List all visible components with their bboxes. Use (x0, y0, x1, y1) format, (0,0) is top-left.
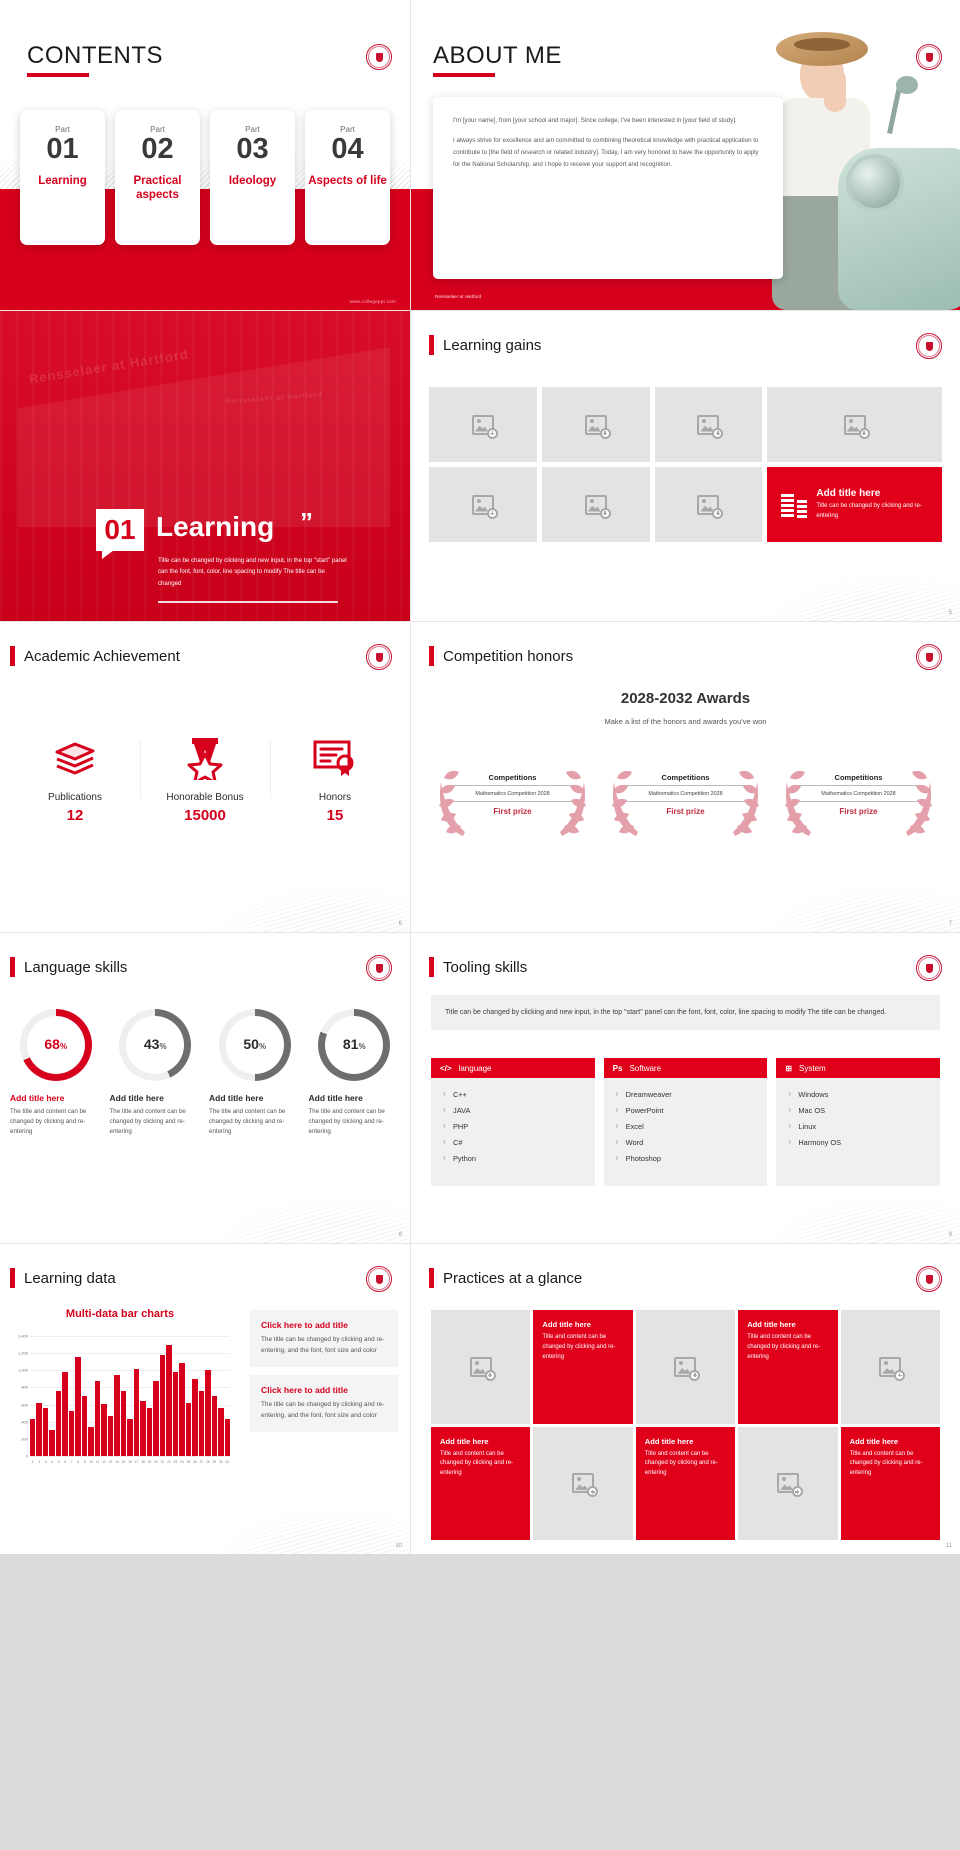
university-crest-icon (366, 1266, 392, 1292)
page-title: Tooling skills (443, 959, 527, 976)
chart-x-tick: 17 (134, 1460, 139, 1464)
add-image-icon (472, 495, 494, 515)
chart-x-tick: 11 (95, 1460, 100, 1464)
part-title: Ideology (210, 175, 295, 189)
practice-card-text: Title and content can be changed by clic… (850, 1450, 931, 1480)
page-title: CONTENTS (27, 42, 163, 70)
title-accent-bar (429, 1268, 434, 1288)
skill-desc: The title and content can be changed by … (110, 1107, 202, 1138)
practice-card-text: Title and content can be changed by clic… (645, 1450, 726, 1480)
chart-x-tick: 21 (160, 1460, 165, 1464)
page-title-block: Academic Achievement (10, 646, 180, 666)
page-title: Practices at a glance (443, 1270, 582, 1287)
chart-x-tick: 12 (101, 1460, 106, 1464)
chart-bar (192, 1379, 197, 1456)
part-title: Aspects of life (305, 175, 390, 189)
note-card[interactable]: Click here to add title The title can be… (250, 1310, 398, 1367)
award-card[interactable]: Competitions Mathematics Competition 202… (604, 752, 767, 837)
practice-card[interactable]: Add title here Title and content can be … (533, 1310, 632, 1424)
about-paragraph-1: I'm [your name], from [your school and m… (453, 115, 763, 127)
skill-value: 50 (243, 1036, 259, 1052)
image-placeholder[interactable] (636, 1310, 735, 1424)
page-title-block: Learning data (10, 1268, 116, 1288)
stat-value: 12 (10, 807, 140, 824)
chart-bar (69, 1411, 74, 1456)
practice-card[interactable]: Add title here Title and content can be … (841, 1427, 940, 1541)
chart-x-tick: 28 (205, 1460, 210, 1464)
slide-section-learning[interactable]: Rensselaer at Hartford Rensselaer at Har… (0, 311, 410, 621)
windows-icon: ⊞ (785, 1064, 792, 1073)
divider-line (158, 601, 338, 603)
skill-percent-sign: % (60, 1042, 67, 1051)
add-image-icon (697, 415, 719, 435)
chart-bar (36, 1403, 41, 1456)
page-number: 11 (946, 1543, 952, 1549)
add-image-icon (585, 495, 607, 515)
award-card[interactable]: Competitions Mathematics Competition 202… (431, 752, 594, 837)
contents-card-list: Part 01 Learning Part 02 Practical aspec… (20, 110, 390, 245)
chart-bar (153, 1381, 158, 1456)
chart-bar (127, 1419, 132, 1456)
part-title: Practical aspects (115, 175, 200, 203)
title-accent-bar (429, 335, 434, 355)
title-underline (433, 73, 495, 77)
image-placeholder[interactable] (767, 387, 942, 462)
award-competition: Competitions (795, 773, 922, 786)
image-placeholder[interactable] (429, 387, 537, 462)
title-accent-bar (429, 957, 434, 977)
chart-y-tick: 400 (21, 1419, 28, 1424)
practice-card-title: Add title here (747, 1320, 828, 1329)
stat-label: Honorable Bonus (140, 792, 270, 803)
chart-y-tick: 1,200 (18, 1351, 28, 1356)
footer-url: www.collegeppt.com (350, 299, 396, 304)
slide-tooling-skills[interactable]: Tooling skills Title can be changed by c… (411, 933, 960, 1243)
add-image-icon (777, 1473, 799, 1493)
list-item[interactable]: C# (440, 1134, 586, 1150)
slide-about-me[interactable]: ABOUT ME I'm [your name], from [your sch… (411, 0, 960, 310)
chart-bar (43, 1408, 48, 1456)
list-item[interactable]: Python (440, 1150, 586, 1166)
chart-x-tick: 18 (140, 1460, 145, 1464)
skill-title: Add title here (309, 1093, 401, 1103)
wave-decoration (150, 1133, 410, 1243)
chart-y-axis: 02004006008001,0001,2001,400 (2, 1336, 28, 1456)
chart-x-tick: 4 (49, 1460, 54, 1464)
photoshop-icon: Ps (613, 1064, 623, 1073)
practice-card-title: Add title here (440, 1437, 521, 1446)
note-card-title: Click here to add title (261, 1385, 387, 1395)
stat-label: Honors (270, 792, 400, 803)
chart-x-axis: 1234567891011121314151617181920212223242… (30, 1460, 230, 1464)
laurel-left-icon (606, 756, 640, 841)
chart-y-tick: 1,000 (18, 1368, 28, 1373)
list-item[interactable]: Mac OS (785, 1103, 931, 1119)
note-card-title: Click here to add title (261, 1320, 387, 1330)
wave-decoration (150, 822, 410, 932)
list-item[interactable]: C++ (440, 1087, 586, 1103)
practice-card-text: Title and content can be changed by clic… (440, 1450, 521, 1480)
award-prize: First prize (795, 807, 922, 816)
photo-caption: Rensselaer at Hartford (435, 294, 481, 299)
chart-bar (160, 1355, 165, 1456)
tooling-columns: </> language C++ JAVA PHP C# Python Ps S… (431, 1058, 940, 1186)
chart-x-tick: 6 (62, 1460, 67, 1464)
chart-bar (101, 1404, 106, 1456)
skill-value: 68 (44, 1036, 60, 1052)
add-image-icon (472, 415, 494, 435)
stat-label: Publications (10, 792, 140, 803)
award-detail: Mathematics Competition 2028 (622, 790, 749, 802)
chart-bar (140, 1401, 145, 1456)
skill-desc: The title and content can be changed by … (309, 1107, 401, 1138)
award-detail: Mathematics Competition 2028 (449, 790, 576, 802)
chart-x-tick: 29 (212, 1460, 217, 1464)
slide-competition-honors[interactable]: Competition honors 2028-2032 Awards Make… (411, 622, 960, 932)
page-title: Language skills (24, 959, 127, 976)
contents-card[interactable]: Part 03 Ideology (210, 110, 295, 245)
title-underline (27, 73, 89, 77)
tooling-column: </> language C++ JAVA PHP C# Python (431, 1058, 595, 1186)
awards-list: Competitions Mathematics Competition 202… (431, 752, 940, 837)
tooling-header-label: System (799, 1064, 826, 1073)
stat-item[interactable]: Honors 15 (270, 732, 400, 824)
slide-contents[interactable]: CONTENTS Part 01 Learning Part 02 Practi… (0, 0, 410, 310)
contents-card[interactable]: Part 01 Learning (20, 110, 105, 245)
chart-x-tick: 3 (43, 1460, 48, 1464)
chart-bar (108, 1416, 113, 1456)
add-image-icon (844, 415, 866, 435)
chart-x-tick: 8 (75, 1460, 80, 1464)
page-number: 7 (949, 921, 952, 927)
university-crest-icon (916, 955, 942, 981)
award-competition: Competitions (622, 773, 749, 786)
image-placeholder[interactable] (431, 1310, 530, 1424)
chart-x-tick: 5 (56, 1460, 61, 1464)
chart-bar (147, 1408, 152, 1456)
image-placeholder[interactable] (533, 1427, 632, 1541)
university-crest-icon (366, 955, 392, 981)
page-title-block: CONTENTS (27, 42, 163, 77)
practice-card-text: Title and content can be changed by clic… (747, 1333, 828, 1363)
note-card-text: The title can be changed by clicking and… (261, 1400, 387, 1422)
chart-x-tick: 31 (225, 1460, 230, 1464)
chart-bar (114, 1375, 119, 1456)
image-placeholder[interactable] (738, 1427, 837, 1541)
practice-card[interactable]: Add title here Title and content can be … (431, 1427, 530, 1541)
image-placeholder[interactable] (542, 467, 650, 542)
page-title-block: Language skills (10, 957, 127, 977)
highlight-card[interactable]: Add title here Title can be changed by c… (767, 467, 942, 542)
university-crest-icon (366, 44, 392, 70)
tooling-item-list: Dreamweaver PowerPoint Excel Word Photos… (604, 1078, 768, 1186)
skill-percent-sign: % (259, 1042, 266, 1051)
books-icon (10, 732, 140, 784)
code-icon: </> (440, 1064, 452, 1073)
chart-title: Multi-data bar charts (0, 1308, 240, 1320)
list-item[interactable]: Harmony OS (785, 1134, 931, 1150)
laurel-right-icon (731, 756, 765, 841)
page-number: 6 (399, 921, 402, 927)
university-crest-icon (916, 333, 942, 359)
chart-bar (88, 1427, 93, 1456)
practice-card-text: Title and content can be changed by clic… (542, 1333, 623, 1363)
skill-title: Add title here (10, 1093, 102, 1103)
certificate-icon (270, 732, 400, 784)
stat-value: 15000 (140, 807, 270, 824)
chart-bar (121, 1391, 126, 1456)
part-number: 04 (305, 134, 390, 164)
award-prize: First prize (622, 807, 749, 816)
chart-x-tick: 27 (199, 1460, 204, 1464)
chart-x-tick: 16 (127, 1460, 132, 1464)
chart-x-tick: 25 (186, 1460, 191, 1464)
tooling-column: Ps Software Dreamweaver PowerPoint Excel… (604, 1058, 768, 1186)
practices-grid: Add title here Title and content can be … (431, 1310, 940, 1540)
add-image-icon (470, 1357, 492, 1377)
skill-title: Add title here (209, 1093, 301, 1103)
chart-y-tick: 0 (26, 1454, 28, 1459)
laurel-right-icon (558, 756, 592, 841)
awards-subheading: Make a list of the honors and awards you… (411, 717, 960, 726)
section-number: 01 (96, 509, 144, 551)
bar-chart: 02004006008001,0001,2001,400 (30, 1336, 230, 1456)
page-title: ABOUT ME (433, 42, 562, 70)
page-title-block: Competition honors (429, 646, 573, 666)
building-icon (781, 492, 807, 518)
image-placeholder[interactable] (542, 387, 650, 462)
page-number: 10 (395, 1543, 402, 1549)
progress-ring: 50% (219, 1009, 291, 1081)
list-item[interactable]: JAVA (440, 1103, 586, 1119)
image-placeholder[interactable] (429, 467, 537, 542)
stat-item[interactable]: Publications 12 (10, 732, 140, 824)
chart-x-tick: 10 (88, 1460, 93, 1464)
slide-academic-achievement[interactable]: Academic Achievement Publications 12 Hon… (0, 622, 410, 932)
chart-bar (166, 1345, 171, 1456)
chart-y-tick: 600 (21, 1402, 28, 1407)
chart-bar (62, 1372, 67, 1456)
progress-ring: 43% (119, 1009, 191, 1081)
skill-item[interactable]: 81% Add title here The title and content… (309, 1009, 401, 1138)
chart-x-tick: 22 (166, 1460, 171, 1464)
list-item[interactable]: Photoshop (613, 1150, 759, 1166)
chart-x-tick: 26 (192, 1460, 197, 1464)
skill-item[interactable]: 50% Add title here The title and content… (209, 1009, 301, 1138)
section-title: Learning (156, 511, 274, 543)
chart-bar (49, 1430, 54, 1456)
tooling-header-label: Software (629, 1064, 661, 1073)
about-text-card: I'm [your name], from [your school and m… (433, 97, 783, 279)
note-text: Title can be changed by clicking and new… (445, 1006, 926, 1019)
title-accent-bar (10, 646, 15, 666)
stat-value: 15 (270, 807, 400, 824)
chart-y-tick: 800 (21, 1385, 28, 1390)
skill-value: 81 (343, 1036, 359, 1052)
chart-bar (212, 1396, 217, 1456)
add-image-icon (697, 495, 719, 515)
award-detail: Mathematics Competition 2028 (795, 790, 922, 802)
page-title-block: Tooling skills (429, 957, 527, 977)
awards-heading: 2028-2032 Awards (411, 690, 960, 707)
practice-card-title: Add title here (850, 1437, 931, 1446)
chart-bar (218, 1408, 223, 1456)
stats-row: Publications 12 Honorable Bonus 15000 Ho… (10, 732, 400, 824)
page-title-block: Practices at a glance (429, 1268, 582, 1288)
skill-desc: The title and content can be changed by … (209, 1107, 301, 1138)
list-item[interactable]: Linux (785, 1119, 931, 1135)
title-accent-bar (429, 646, 434, 666)
chart-bar (75, 1357, 80, 1456)
page-number: 9 (949, 1232, 952, 1238)
skill-percent-sign: % (159, 1042, 166, 1051)
slide-learning-gains[interactable]: Learning gains Add title here Title can … (411, 311, 960, 621)
chart-x-tick: 30 (218, 1460, 223, 1464)
award-prize: First prize (449, 807, 576, 816)
about-paragraph-2: I always strive for excellence and am co… (453, 135, 763, 171)
chart-y-tick: 1,400 (18, 1334, 28, 1339)
award-competition: Competitions (449, 773, 576, 786)
chart-y-tick: 200 (21, 1436, 28, 1441)
page-title-block: Learning gains (429, 335, 541, 355)
practice-card-title: Add title here (542, 1320, 623, 1329)
chart-x-tick: 9 (82, 1460, 87, 1464)
chart-bar (82, 1396, 87, 1456)
page-title-block: ABOUT ME (433, 42, 562, 77)
title-accent-bar (10, 1268, 15, 1288)
chart-bar (205, 1370, 210, 1456)
tooling-header[interactable]: ⊞ System (776, 1058, 940, 1078)
laurel-right-icon (904, 756, 938, 841)
laurel-left-icon (779, 756, 813, 841)
chart-bar (95, 1381, 100, 1456)
chart-bar (56, 1391, 61, 1456)
add-image-icon (585, 415, 607, 435)
tooling-item-list: Windows Mac OS Linux Harmony OS (776, 1078, 940, 1186)
list-item[interactable]: Excel (613, 1119, 759, 1135)
title-accent-bar (10, 957, 15, 977)
chart-bar (225, 1419, 230, 1456)
laurel-left-icon (433, 756, 467, 841)
skill-desc: The title and content can be changed by … (10, 1107, 102, 1138)
chart-bar (30, 1419, 35, 1456)
chart-x-tick: 24 (179, 1460, 184, 1464)
progress-ring: 81% (318, 1009, 390, 1081)
chart-x-tick: 15 (121, 1460, 126, 1464)
tooling-header[interactable]: Ps Software (604, 1058, 768, 1078)
chart-x-tick: 13 (108, 1460, 113, 1464)
university-crest-icon (916, 44, 942, 70)
progress-ring: 68% (20, 1009, 92, 1081)
skill-ring-row: 68% Add title here The title and content… (10, 1009, 400, 1138)
university-crest-icon (916, 1266, 942, 1292)
tooling-header-label: language (459, 1064, 492, 1073)
page-title: Learning gains (443, 337, 541, 354)
chart-x-tick: 7 (69, 1460, 74, 1464)
part-title: Learning (20, 175, 105, 189)
chart-bar (179, 1363, 184, 1456)
skill-title: Add title here (110, 1093, 202, 1103)
chart-bars (30, 1336, 230, 1456)
quote-mark-icon: ” (300, 507, 313, 538)
add-image-icon (879, 1357, 901, 1377)
skill-item[interactable]: 43% Add title here The title and content… (110, 1009, 202, 1138)
add-image-icon (572, 1473, 594, 1493)
skill-item[interactable]: 68% Add title here The title and content… (10, 1009, 102, 1138)
highlight-card-text: Title can be changed by clicking and re-… (816, 502, 928, 521)
page-title: Competition honors (443, 648, 573, 665)
image-placeholder[interactable] (655, 467, 763, 542)
page-title: Academic Achievement (24, 648, 180, 665)
section-number-badge: 01 (96, 509, 144, 551)
chart-x-tick: 14 (114, 1460, 119, 1464)
skill-value: 43 (144, 1036, 160, 1052)
chart-x-tick: 20 (153, 1460, 158, 1464)
part-number: 01 (20, 134, 105, 164)
list-item[interactable]: Dreamweaver (613, 1087, 759, 1103)
part-number: 02 (115, 134, 200, 164)
chart-x-tick: 2 (36, 1460, 41, 1464)
chart-x-tick: 23 (173, 1460, 178, 1464)
page-number: 5 (949, 610, 952, 616)
list-item[interactable]: PowerPoint (613, 1103, 759, 1119)
part-number: 03 (210, 134, 295, 164)
contents-card[interactable]: Part 02 Practical aspects (115, 110, 200, 245)
tooling-header[interactable]: </> language (431, 1058, 595, 1078)
highlight-card-title: Add title here (816, 488, 928, 499)
contents-card[interactable]: Part 04 Aspects of life (305, 110, 390, 245)
list-item[interactable]: Windows (785, 1087, 931, 1103)
slide-language-skills[interactable]: Language skills 68% Add title here The t… (0, 933, 410, 1243)
add-image-icon (674, 1357, 696, 1377)
chart-bar (199, 1391, 204, 1456)
medal-icon (140, 732, 270, 784)
chart-bar (173, 1372, 178, 1456)
page-number: 8 (399, 1232, 402, 1238)
slide-practices[interactable]: Practices at a glance Add title here Tit… (411, 1244, 960, 1554)
note-box: Title can be changed by clicking and new… (431, 995, 940, 1030)
chart-bar (186, 1403, 191, 1456)
tooling-item-list: C++ JAVA PHP C# Python (431, 1078, 595, 1186)
image-placeholder[interactable] (655, 387, 763, 462)
university-crest-icon (366, 644, 392, 670)
list-item[interactable]: PHP (440, 1119, 586, 1135)
practice-card[interactable]: Add title here Title and content can be … (636, 1427, 735, 1541)
list-item[interactable]: Word (613, 1134, 759, 1150)
gains-grid: Add title here Title can be changed by c… (429, 387, 942, 542)
tooling-column: ⊞ System Windows Mac OS Linux Harmony OS (776, 1058, 940, 1186)
chart-x-tick: 1 (30, 1460, 35, 1464)
slide-learning-data[interactable]: Learning data Multi-data bar charts 0200… (0, 1244, 410, 1554)
chart-x-tick: 19 (147, 1460, 152, 1464)
section-description: Title can be changed by clicking and new… (158, 555, 348, 589)
image-placeholder[interactable] (841, 1310, 940, 1424)
note-card[interactable]: Click here to add title The title can be… (250, 1375, 398, 1432)
award-card[interactable]: Competitions Mathematics Competition 202… (777, 752, 940, 837)
chart-side-notes: Click here to add title The title can be… (250, 1310, 398, 1432)
page-title: Learning data (24, 1270, 116, 1287)
note-card-text: The title can be changed by clicking and… (261, 1335, 387, 1357)
chart-bar (134, 1369, 139, 1456)
skill-percent-sign: % (358, 1042, 365, 1051)
stat-item[interactable]: Honorable Bonus 15000 (140, 732, 270, 824)
university-crest-icon (916, 644, 942, 670)
practice-card-title: Add title here (645, 1437, 726, 1446)
practice-card[interactable]: Add title here Title and content can be … (738, 1310, 837, 1424)
